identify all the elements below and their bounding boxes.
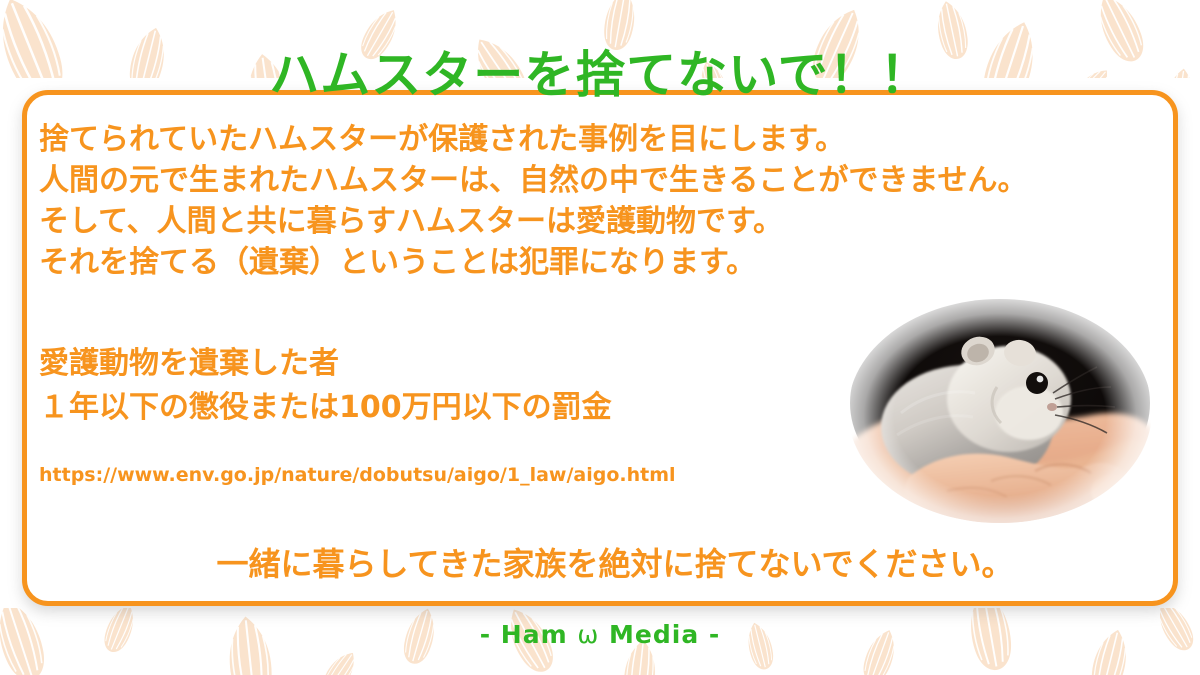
- hamster-photo: [839, 295, 1161, 537]
- poster-canvas: ハムスターを捨てないで！！ 捨てられていたハムスターが保護された事例を目にします…: [0, 0, 1200, 675]
- page-title: ハムスターを捨てないで！！: [0, 48, 1200, 103]
- footer-prefix: - Ham: [480, 620, 568, 649]
- intro-line-4: それを捨てる（遺棄）ということは犯罪になります。: [39, 248, 756, 278]
- omega-icon: ω: [577, 620, 599, 649]
- message-card-inner: 捨てられていたハムスターが保護された事例を目にします。 人間の元で生まれたハムス…: [27, 95, 1173, 601]
- penalty-line-2: １年以下の懲役または100万円以下の罰金: [39, 393, 612, 423]
- source-url-link[interactable]: https://www.env.go.jp/nature/dobutsu/aig…: [39, 464, 676, 486]
- footer-brand: - Ham ω Media -: [0, 620, 1200, 649]
- intro-line-2: 人間の元で生まれたハムスターは、自然の中で生きることができません。: [39, 166, 1028, 196]
- footer-suffix: Media -: [609, 620, 720, 649]
- intro-line-3: そして、人間と共に暮らすハムスターは愛護動物です。: [39, 207, 783, 237]
- intro-line-1: 捨てられていたハムスターが保護された事例を目にします。: [39, 125, 845, 155]
- closing-message: 一緒に暮らしてきた家族を絶対に捨てないでください。: [27, 539, 1173, 585]
- penalty-line-1: 愛護動物を遺棄した者: [39, 349, 339, 379]
- hamster-photo-svg: [839, 295, 1161, 537]
- message-card: 捨てられていたハムスターが保護された事例を目にします。 人間の元で生まれたハムス…: [22, 90, 1178, 606]
